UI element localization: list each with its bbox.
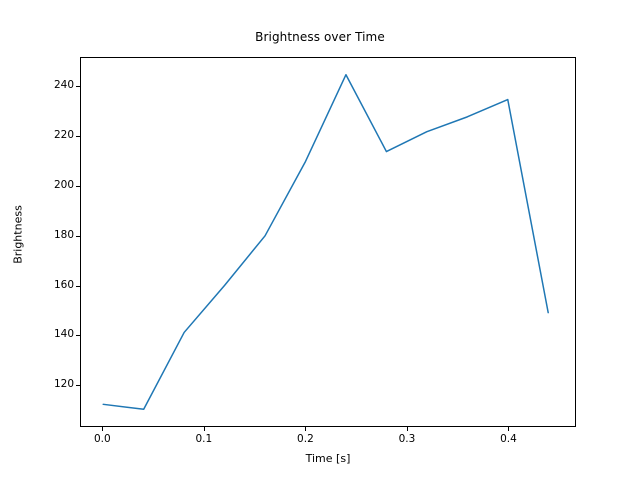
y-tick-mark bbox=[76, 335, 80, 336]
y-tick-label: 120 bbox=[34, 379, 74, 390]
y-tick-mark bbox=[76, 86, 80, 87]
y-axis-tick-labels: 120140160180200220240 bbox=[28, 0, 74, 480]
x-tick-mark bbox=[407, 427, 408, 431]
x-tick-mark bbox=[102, 427, 103, 431]
plot-area bbox=[80, 57, 576, 427]
x-tick-label: 0.1 bbox=[174, 433, 234, 445]
x-tick-mark bbox=[508, 427, 509, 431]
x-tick-label: 0.3 bbox=[377, 433, 437, 445]
y-tick-mark bbox=[76, 136, 80, 137]
y-tick-label: 200 bbox=[34, 180, 74, 191]
y-axis-label: Brightness bbox=[12, 155, 25, 315]
line-series-svg bbox=[81, 58, 575, 426]
brightness-line bbox=[103, 75, 548, 410]
x-tick-label: 0.4 bbox=[478, 433, 538, 445]
x-tick-label: 0.2 bbox=[275, 433, 335, 445]
x-tick-label: 0.0 bbox=[72, 433, 132, 445]
page-title: Brightness over Time bbox=[0, 30, 640, 44]
figure-canvas: Brightness over Time Brightness 12014016… bbox=[0, 0, 640, 480]
y-tick-mark bbox=[76, 186, 80, 187]
x-axis-label: Time [s] bbox=[80, 452, 576, 465]
y-tick-label: 140 bbox=[34, 329, 74, 340]
x-tick-mark bbox=[305, 427, 306, 431]
y-tick-label: 240 bbox=[34, 80, 74, 91]
y-tick-mark bbox=[76, 286, 80, 287]
x-tick-mark bbox=[204, 427, 205, 431]
y-tick-label: 180 bbox=[34, 230, 74, 241]
y-tick-label: 160 bbox=[34, 280, 74, 291]
y-tick-mark bbox=[76, 236, 80, 237]
y-tick-label: 220 bbox=[34, 130, 74, 141]
y-tick-mark bbox=[76, 385, 80, 386]
